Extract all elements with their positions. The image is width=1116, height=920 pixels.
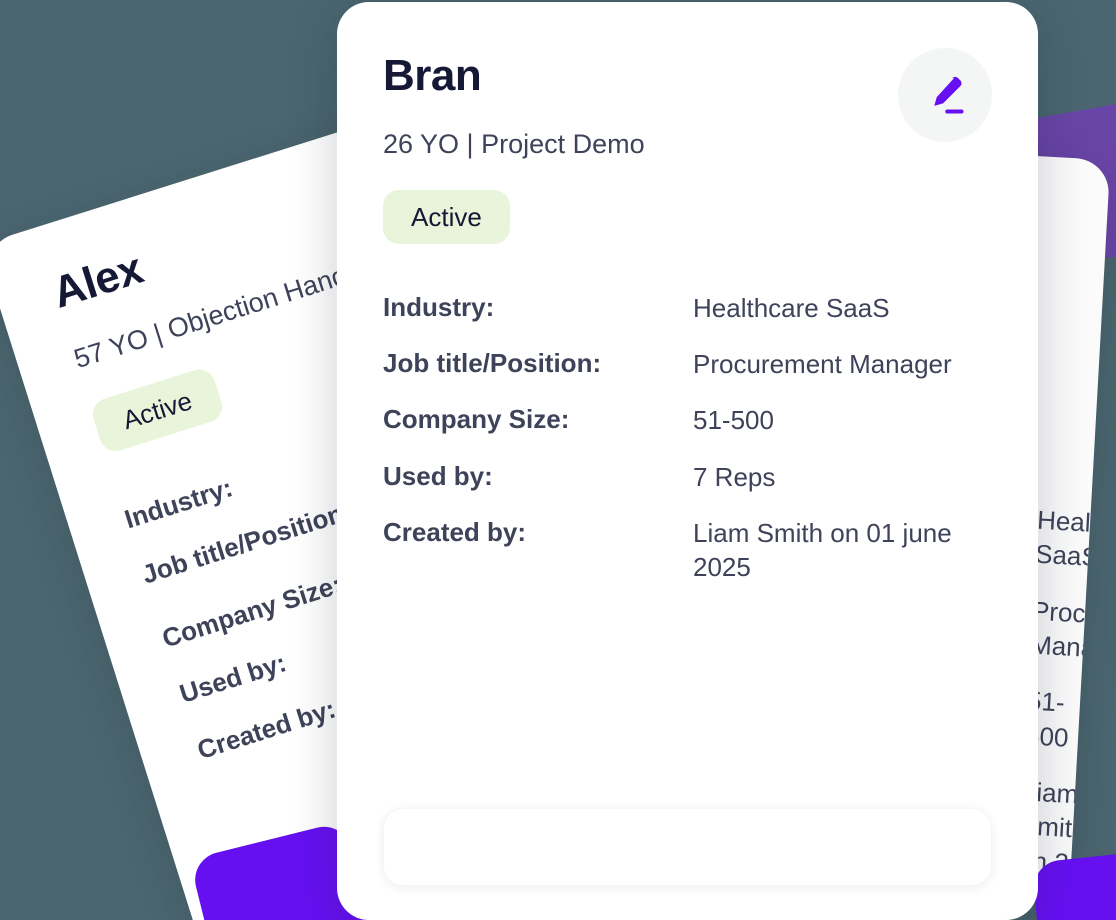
field-value: Procurement Manager	[1029, 593, 1110, 670]
field-label: Created by:	[383, 516, 693, 549]
field-industry: Industry: Healthcare SaaS	[383, 291, 992, 325]
status-badge: Active	[383, 190, 510, 244]
field-value: Healthcare SaaS	[1034, 503, 1110, 579]
field-value: Liam Smith on 01 june 2025	[693, 516, 992, 585]
field-value: 51-500	[693, 403, 992, 437]
persona-subtitle: 26 YO | Project Demo	[383, 130, 992, 160]
field-company-size: Company Size: 51-500	[383, 403, 992, 437]
status-badge: Active	[89, 365, 226, 455]
persona-card-bran[interactable]: Bran 26 YO | Project Demo Active Industr…	[337, 2, 1038, 920]
field-label: Company Size:	[383, 403, 693, 436]
main-card-fields: Industry: Healthcare SaaS Job title/Posi…	[383, 291, 992, 585]
pencil-icon	[922, 72, 968, 118]
field-value: Procurement Manager	[693, 347, 992, 381]
field-used-by: Used by: 7 Reps	[383, 460, 992, 494]
field-label: Used by:	[383, 460, 693, 493]
canvas: Industry: Healthcare SaaS Job title/Posi…	[0, 0, 1116, 920]
field-value: Healthcare SaaS	[693, 291, 992, 325]
field-label: Industry:	[383, 291, 693, 324]
field-label: Job title/Position:	[383, 347, 693, 380]
field-job-title: Job title/Position: Procurement Manager	[383, 347, 992, 381]
field-created-by: Created by: Liam Smith on 01 june 2025	[383, 516, 992, 585]
field-value: 7 Reps	[693, 460, 992, 494]
edit-button[interactable]	[898, 48, 992, 142]
card-footer-panel	[383, 808, 992, 886]
